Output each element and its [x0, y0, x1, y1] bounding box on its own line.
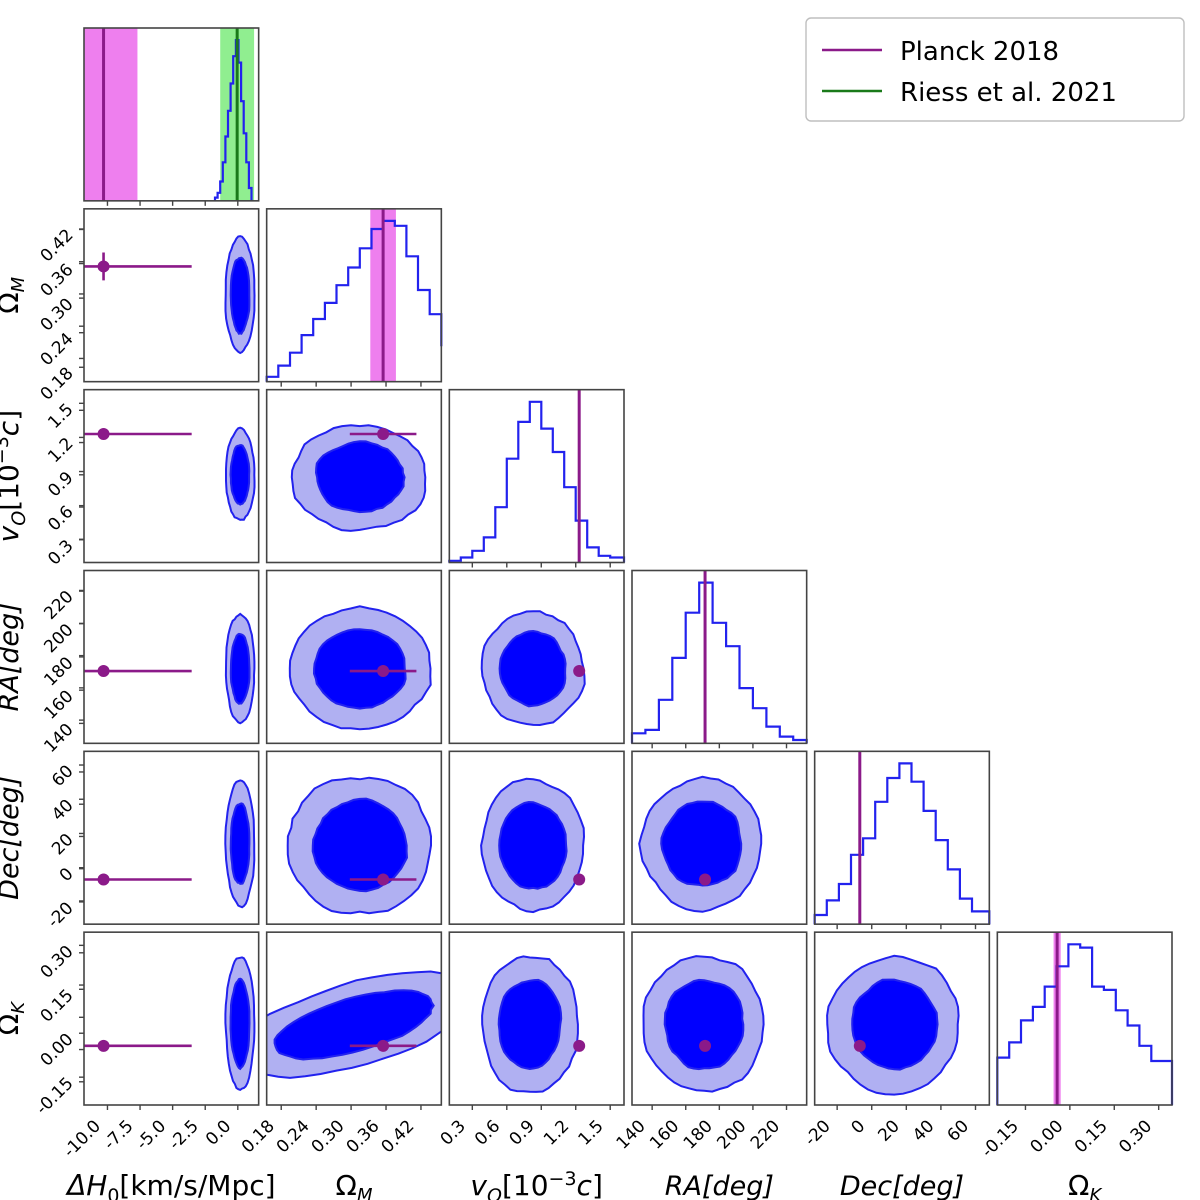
- y-tick-label: 1.5: [44, 400, 77, 433]
- planck-point: [377, 1040, 389, 1052]
- panel-contour-RA-vs-Dec: [632, 751, 807, 924]
- x-tick-label: 0.3: [437, 1116, 470, 1149]
- panel-contour-vO-vs-RA: [449, 571, 624, 744]
- contour-clip-group: [482, 956, 578, 1092]
- contour-clip-group: [226, 428, 255, 520]
- y-tick-label: 0.15: [37, 986, 78, 1027]
- contour-clip-group: [288, 778, 431, 914]
- x-axis-title-vO: vO[10−3c]: [470, 1168, 602, 1200]
- x-axis-title-OmegaM: ΩM: [336, 1169, 373, 1200]
- planck-point: [98, 260, 110, 272]
- contour-1sigma: [231, 258, 250, 334]
- x-tick-label: -20: [801, 1116, 835, 1150]
- planck-point: [98, 1040, 110, 1052]
- contour-clip-group: [226, 614, 255, 723]
- panel-contour-OmegaM-vs-RA: [267, 571, 442, 744]
- x-tick-label: 0.6: [471, 1116, 504, 1149]
- planck-point: [377, 665, 389, 677]
- panel-hist-vO: [449, 390, 624, 568]
- y-tick-label: 0.30: [37, 295, 78, 336]
- contour-1sigma: [314, 629, 406, 708]
- panel-contour-vO-vs-OmegaK: [449, 932, 624, 1110]
- x-tick-label: 220: [747, 1116, 784, 1153]
- x-tick-label: 0.15: [1071, 1116, 1112, 1157]
- contour-clip-group: [290, 606, 431, 729]
- panel-frame: [449, 390, 624, 563]
- x-tick-label: 140: [613, 1116, 650, 1153]
- x-axis-title-OmegaK: ΩK: [1068, 1169, 1102, 1200]
- y-tick-label: 160: [40, 687, 77, 724]
- panel-contour-OmegaM-vs-OmegaK: [235, 932, 473, 1110]
- x-tick-label: -7.5: [100, 1116, 138, 1154]
- x-tick-label: 20: [874, 1116, 903, 1145]
- posterior-histogram: [632, 583, 807, 744]
- contour-clip-group: [226, 236, 255, 353]
- planck-marker: [15, 428, 191, 440]
- y-tick-label: 0.3: [44, 536, 77, 569]
- axis-labels: -10.0-7.5-5.0-2.50.0ΔH0[km/s/Mpc]0.180.2…: [0, 225, 1156, 1200]
- panel-hist-Dec: [815, 751, 990, 929]
- contour-1sigma: [231, 634, 250, 704]
- planck-marker: [573, 1040, 585, 1052]
- planck-point: [573, 1040, 585, 1052]
- x-tick-label: 60: [944, 1116, 973, 1145]
- y-axis-title-RA: RA[deg]: [0, 602, 25, 711]
- y-tick-label: 40: [48, 796, 77, 825]
- contour-clip-group: [481, 779, 584, 912]
- planck-point: [854, 1040, 866, 1052]
- x-tick-label: 0: [847, 1116, 869, 1138]
- contour-1sigma: [500, 631, 566, 706]
- panel-contour-Dec-vs-OmegaK: [815, 932, 990, 1110]
- x-tick-label: 200: [713, 1116, 750, 1153]
- y-tick-label: 0.36: [37, 260, 78, 301]
- planck-marker: [573, 874, 585, 886]
- x-axis-title-dH0: ΔH0[km/s/Mpc]: [65, 1169, 275, 1200]
- x-tick-label: 160: [646, 1116, 683, 1153]
- y-tick-label: 0.42: [37, 225, 78, 266]
- planck-band: [84, 28, 137, 201]
- contour-clip-group: [482, 611, 585, 725]
- posterior-histogram: [449, 402, 624, 563]
- legend: Planck 2018Riess et al. 2021: [806, 18, 1184, 121]
- y-tick-label: 60: [48, 761, 77, 790]
- contour-clip-group: [225, 780, 254, 907]
- y-axis-title-OmegaK: ΩK: [0, 1001, 29, 1035]
- x-tick-label: -0.15: [978, 1116, 1023, 1161]
- planck-point: [98, 874, 110, 886]
- y-tick-label: 20: [48, 830, 77, 859]
- x-tick-label: 0.9: [506, 1116, 539, 1149]
- planck-point: [573, 665, 585, 677]
- x-tick-label: -5.0: [133, 1116, 171, 1154]
- panel-contour-OmegaM-vs-Dec: [267, 751, 442, 924]
- panel-hist-dH0: [84, 28, 259, 206]
- x-tick-label: 0.0: [202, 1116, 235, 1149]
- planck-marker: [699, 1040, 711, 1052]
- planck-point: [377, 428, 389, 440]
- x-tick-label: -2.5: [165, 1116, 203, 1154]
- x-tick-label: 0.30: [308, 1116, 349, 1157]
- panel-hist-OmegaM: [267, 209, 442, 387]
- planck-marker: [699, 874, 711, 886]
- contour-1sigma: [316, 441, 405, 512]
- x-tick-label: 0.30: [1115, 1116, 1156, 1157]
- y-tick-label: 180: [40, 653, 77, 690]
- contour-clip-group: [292, 425, 426, 531]
- panel-frame: [997, 932, 1172, 1105]
- y-tick-label: 0.30: [37, 942, 78, 983]
- panel-contour-RA-vs-OmegaK: [632, 932, 807, 1110]
- planck-marker: [573, 665, 585, 677]
- y-tick-label: 0.6: [44, 502, 77, 535]
- x-tick-label: 0.24: [273, 1116, 314, 1157]
- contour-clip-group: [644, 956, 764, 1092]
- y-tick-label: 0.18: [37, 364, 78, 405]
- contour-1sigma: [499, 802, 566, 889]
- contour-clip-group: [827, 956, 959, 1095]
- y-tick-label: 200: [40, 620, 77, 657]
- y-tick-label: 0.00: [37, 1030, 78, 1071]
- posterior-histogram: [997, 944, 1172, 1105]
- contour-1sigma: [852, 980, 937, 1070]
- panel-contour-OmegaM-vs-vO: [267, 390, 442, 563]
- y-tick-label: 1.2: [44, 434, 77, 467]
- x-axis-title-Dec: Dec[deg]: [840, 1171, 964, 1200]
- x-tick-label: 0.42: [378, 1116, 419, 1157]
- planck-marker: [854, 1040, 866, 1052]
- x-axis-title-RA: RA[deg]: [665, 1171, 774, 1200]
- y-tick-label: -20: [44, 898, 78, 932]
- contour-clip-group: [235, 972, 473, 1078]
- x-tick-label: -10.0: [60, 1116, 105, 1161]
- legend-label-riess: Riess et al. 2021: [900, 78, 1117, 108]
- x-tick-label: 180: [680, 1116, 717, 1153]
- planck-point: [98, 428, 110, 440]
- contour-clip-group: [225, 957, 254, 1090]
- y-tick-label: 0.9: [44, 468, 77, 501]
- corner-plot-svg: -10.0-7.5-5.0-2.50.0ΔH0[km/s/Mpc]0.180.2…: [0, 0, 1200, 1200]
- planck-point: [699, 1040, 711, 1052]
- contour-1sigma: [665, 980, 744, 1069]
- planck-marker: [15, 874, 191, 886]
- y-tick-label: 140: [40, 720, 77, 757]
- corner-plot-figure: -10.0-7.5-5.0-2.50.0ΔH0[km/s/Mpc]0.180.2…: [0, 0, 1200, 1200]
- planck-point: [699, 874, 711, 886]
- x-tick-label: 1.5: [574, 1116, 607, 1149]
- x-tick-label: 0.00: [1026, 1116, 1067, 1157]
- y-tick-label: 0: [56, 864, 78, 886]
- panel-hist-RA: [632, 571, 807, 749]
- contour-clip-group: [639, 777, 761, 912]
- planck-point: [377, 874, 389, 886]
- y-axis-title-Dec: Dec[deg]: [0, 776, 25, 900]
- posterior-histogram: [815, 763, 990, 924]
- contour-1sigma: [231, 979, 250, 1069]
- x-tick-label: 40: [909, 1116, 938, 1145]
- y-tick-label: 220: [40, 587, 77, 624]
- contour-1sigma: [231, 445, 250, 505]
- x-tick-label: 1.2: [540, 1116, 573, 1149]
- posterior-histogram: [267, 221, 442, 382]
- contour-1sigma: [231, 803, 250, 883]
- panel-frame: [267, 209, 442, 382]
- y-tick-label: 0.24: [37, 329, 78, 370]
- planck-point: [573, 874, 585, 886]
- y-tick-label: -0.15: [32, 1074, 77, 1119]
- legend-label-planck: Planck 2018: [900, 37, 1059, 67]
- x-tick-label: 0.36: [343, 1116, 384, 1157]
- panel-contour-vO-vs-Dec: [449, 751, 624, 924]
- y-axis-title-vO: vO[10−3c]: [0, 410, 30, 542]
- x-tick-label: 0.18: [238, 1116, 279, 1157]
- panel-hist-OmegaK: [997, 932, 1172, 1110]
- planck-point: [98, 665, 110, 677]
- y-axis-title-OmegaM: ΩM: [0, 276, 29, 313]
